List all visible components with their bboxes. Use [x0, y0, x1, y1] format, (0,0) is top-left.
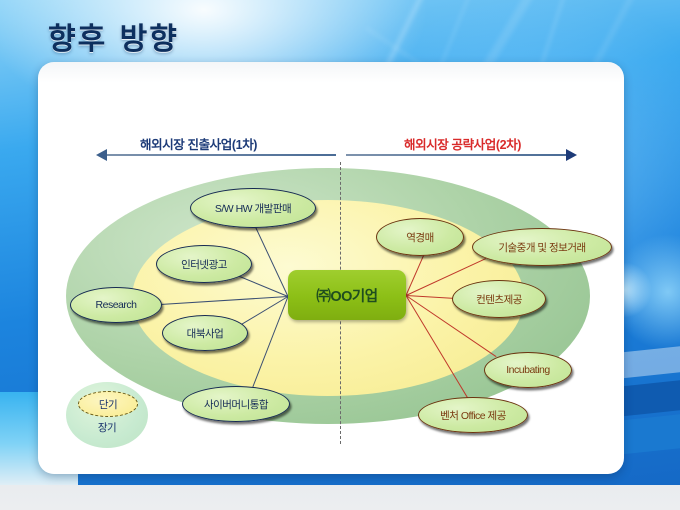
- node-label: 기술중개 및 정보거래: [498, 240, 585, 255]
- node-label: Incubating: [506, 364, 549, 376]
- arrow-left-icon: [96, 149, 107, 161]
- node-label: 벤처 Office 제공: [440, 408, 506, 423]
- center-company-label: ㈜OO기업: [316, 285, 377, 306]
- node-label: 역경매: [406, 230, 433, 245]
- node-incubating[interactable]: Incubating: [484, 352, 572, 388]
- node-cyber-money-integration[interactable]: 사이버머니통합: [182, 386, 290, 422]
- slide-canvas: 향후 방향 해외시장 진출사업(1차) 해외시장 공략사업(2차) ㈜OO기업 …: [0, 0, 680, 510]
- center-company-box[interactable]: ㈜OO기업: [288, 270, 406, 320]
- node-label: 대북사업: [187, 326, 224, 341]
- background-bottom-band: [0, 485, 680, 510]
- page-title: 향후 방향: [48, 14, 179, 58]
- legend-long-term-label: 장기: [66, 420, 148, 435]
- node-label: 인터넷광고: [181, 257, 227, 272]
- node-sw-hw-dev-sales[interactable]: S/W HW 개발판매: [190, 188, 316, 228]
- node-venture-office[interactable]: 벤처 Office 제공: [418, 397, 528, 433]
- node-tech-brokerage-info-trade[interactable]: 기술중개 및 정보거래: [472, 228, 612, 266]
- node-research[interactable]: Research: [70, 287, 162, 323]
- phase2-label: 해외시장 공략사업(2차): [404, 134, 521, 153]
- node-internet-ad[interactable]: 인터넷광고: [156, 245, 252, 283]
- legend-short-term-label: 단기: [99, 397, 117, 412]
- node-label: 컨텐츠제공: [476, 292, 522, 307]
- node-north-korea-business[interactable]: 대북사업: [162, 315, 248, 351]
- arrow-right-icon: [566, 149, 577, 161]
- node-reverse-auction[interactable]: 역경매: [376, 218, 464, 256]
- node-label: S/W HW 개발판매: [215, 201, 291, 216]
- node-label: 사이버머니통합: [204, 397, 268, 412]
- legend-short-term-shape: 단기: [78, 391, 138, 417]
- phase1-axis-line: [104, 154, 336, 156]
- phase2-axis-line: [346, 154, 568, 156]
- node-label: Research: [96, 299, 137, 311]
- phase1-label: 해외시장 진출사업(1차): [140, 134, 257, 153]
- node-contents-provision[interactable]: 컨텐츠제공: [452, 280, 546, 318]
